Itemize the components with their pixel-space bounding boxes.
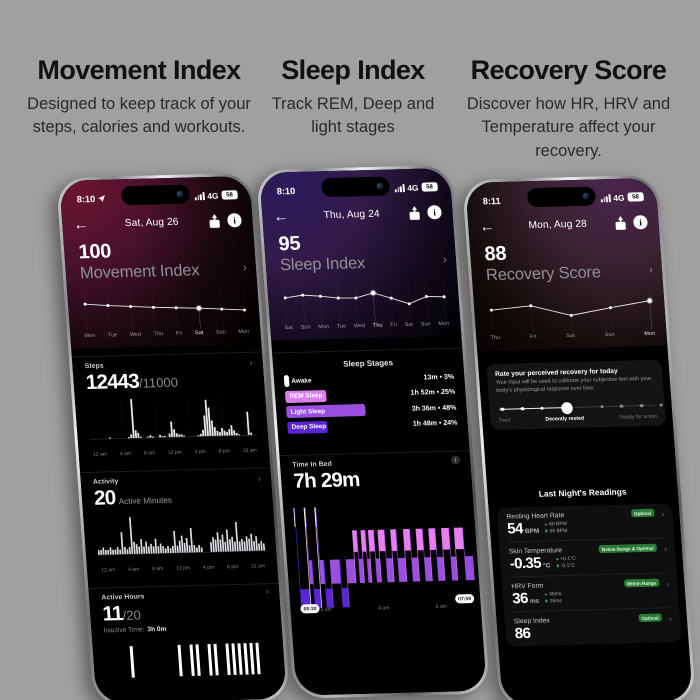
dynamic-island: [121, 184, 190, 205]
axis-tick: 4 am: [120, 451, 132, 457]
stage-bar: Deep Sleep: [287, 421, 327, 434]
stage-value: 1h 48m • 24%: [413, 420, 458, 428]
axis-tick: 8 am: [144, 450, 156, 456]
reading-main: 86: [514, 622, 672, 641]
week-sparkline-recovery[interactable]: ThuFriSatSunMon: [484, 290, 659, 350]
activity-unit: Active Minutes: [118, 496, 172, 506]
readings-heading: Last Night's Readings: [487, 485, 677, 500]
readings-card: Resting Heart Rate54BPM60 BPM55 BPMOptim…: [497, 503, 682, 646]
card-activity[interactable]: Activity › 20 Active Minutes 12 am4 am8 …: [80, 467, 278, 584]
axis-tick: 8 pm: [219, 448, 231, 454]
day-label: Mon: [644, 331, 655, 337]
active-hours-goal: /20: [122, 608, 141, 623]
slider-label-high: Ready for action: [619, 414, 657, 421]
sleep-end-pill: 07:59: [455, 594, 474, 603]
reading-row[interactable]: HRV Form36ms45ms35msWithin Range›: [502, 573, 679, 611]
nav-bar: ← Sat, Aug 26 i: [62, 206, 254, 239]
screen-recovery: 8:11 4G 58 ← Mon, Aug 28 i 88 Recovery S…: [465, 178, 692, 700]
stage-bar-wrap: AwakeAwake: [284, 375, 312, 388]
card-active-hours[interactable]: Active Hours › 11 /20 Inactive Time: 3h …: [89, 583, 287, 700]
battery-icon: 58: [627, 193, 644, 202]
slider-label-mid: Decently rested: [545, 416, 584, 423]
day-label: Mon: [438, 321, 449, 327]
sleep-stage-row: Light Sleep3h 36m • 48%: [286, 402, 457, 418]
headline-subtitle: Track REM, Deep and light stages: [263, 93, 443, 140]
screen-sleep: 8:10 4G 58 ← Thu, Aug 24 i 95 Sleep Inde…: [259, 168, 486, 695]
nav-date-label: Thu, Aug 24: [288, 208, 409, 222]
day-label: Mon: [84, 333, 95, 339]
day-label: Sat: [404, 322, 413, 328]
sleep-stage-row: Deep Sleep1h 48m • 24%: [287, 418, 458, 434]
phone-recovery-score: 8:11 4G 58 ← Mon, Aug 28 i 88 Recovery S…: [462, 175, 696, 700]
camera-dot: [582, 192, 590, 199]
nav-date-label: Mon, Aug 28: [494, 218, 615, 232]
back-arrow-icon[interactable]: ←: [479, 219, 495, 234]
back-arrow-icon[interactable]: ←: [73, 217, 89, 232]
slider-dots: [497, 400, 656, 404]
axis-tick: 2 am: [321, 607, 333, 613]
slider-step-dot[interactable]: [620, 404, 624, 407]
chevron-right-icon[interactable]: ›: [249, 358, 253, 368]
chevron-right-icon[interactable]: ›: [243, 262, 248, 274]
location-arrow-icon: [97, 194, 106, 202]
stage-bar: REM Sleep: [285, 390, 327, 403]
headline-movement: Movement Index Designed to keep track of…: [20, 56, 258, 140]
reading-unit: ms: [530, 598, 540, 606]
chevron-right-icon[interactable]: ›: [661, 510, 664, 519]
day-label: Tue: [337, 324, 347, 330]
back-arrow-icon[interactable]: ←: [273, 209, 289, 224]
steps-goal: /11000: [139, 375, 179, 391]
hero-movement[interactable]: 100 Movement Index ›: [78, 238, 247, 283]
range-low: 55 BPM: [545, 528, 568, 535]
reading-value: 86: [514, 626, 531, 641]
reading-row[interactable]: Sleep Index86Optimal›: [504, 608, 681, 646]
rate-card-description: Your input will be used to calibrate you…: [496, 376, 656, 396]
week-sparkline-sleep[interactable]: SatSunMonTueWedThuFriSatSunMon: [278, 280, 453, 340]
day-label: Thu: [490, 335, 500, 341]
reading-main: 54BPM60 BPM55 BPM: [507, 518, 665, 537]
steps-axis-labels: 12 am4 am8 am12 pm4 pm8 pm12 am: [91, 448, 259, 458]
activity-bar-chart: [95, 510, 266, 562]
day-label: Sat: [195, 330, 204, 336]
hero-score: 100: [78, 238, 245, 263]
axis-tick: 12 am: [243, 448, 257, 454]
dynamic-island: [527, 186, 596, 207]
reading-row[interactable]: Skin Temperature-0.35°C+0.1°C-0.1°CBelow…: [499, 538, 676, 576]
slider-step-dot[interactable]: [501, 407, 505, 410]
chevron-right-icon[interactable]: ›: [266, 586, 270, 596]
axis-tick: 12 am: [101, 567, 115, 573]
stage-bar-wrap: Deep Sleep: [287, 421, 327, 434]
nav-bar: ← Thu, Aug 24 i: [262, 198, 454, 231]
day-label: Sun: [216, 330, 226, 336]
stage-name: Awake: [291, 377, 312, 385]
slider-fill: [500, 407, 570, 410]
share-icon[interactable]: [614, 216, 627, 230]
share-icon[interactable]: [408, 206, 421, 220]
axis-tick: 12 am: [93, 452, 107, 458]
headline-title: Movement Index: [20, 56, 258, 86]
reading-unit: °C: [543, 563, 551, 571]
chevron-right-icon[interactable]: ›: [649, 264, 654, 276]
range-low: 35ms: [545, 598, 562, 605]
reading-main: -0.35°C+0.1°C-0.1°C: [509, 553, 667, 572]
reading-value: 54: [507, 521, 524, 536]
day-label: Mon: [238, 329, 249, 335]
chevron-right-icon[interactable]: ›: [257, 474, 261, 484]
day-label: Sat: [284, 325, 293, 331]
headline-row: Movement Index Designed to keep track of…: [0, 0, 700, 172]
axis-tick: 4 pm: [203, 565, 215, 571]
status-badge: Within Range: [623, 579, 659, 588]
sparkline-svg: [278, 280, 452, 324]
day-label: Wed: [354, 323, 366, 329]
sparkline-svg: [78, 288, 252, 332]
sleep-stages-heading: Sleep Stages: [283, 357, 453, 370]
axis-tick: 12 am: [251, 563, 265, 569]
axis-tick: 8 am: [152, 566, 164, 572]
card-steps[interactable]: Steps › 12443 /11000 12 am4 am8 am12 pm4…: [72, 352, 270, 469]
signal-icon: [395, 184, 405, 192]
axis-tick: 4 am: [128, 567, 140, 573]
perceived-recovery-card[interactable]: Rate your perceived recovery for today Y…: [486, 360, 665, 430]
network-label: 4G: [407, 182, 419, 192]
screen-movement: 8:10 4G 58 ← Sat, Aug 26 i 100 Movement …: [59, 176, 286, 700]
phone-sleep-index: 8:10 4G 58 ← Thu, Aug 24 i 95 Sleep Inde…: [256, 165, 490, 699]
day-label: Tue: [108, 332, 118, 338]
reading-row[interactable]: Resting Heart Rate54BPM60 BPM55 BPMOptim…: [497, 503, 674, 541]
stage-bar: Light Sleep: [286, 404, 366, 418]
readings-heading-wrap: Last Night's Readings: [487, 485, 677, 500]
day-label: Sun: [301, 325, 311, 331]
stage-value: 13m • 3%: [423, 373, 454, 381]
steps-value: 12443: [85, 370, 140, 395]
axis-tick: 4 am: [378, 605, 390, 611]
info-icon[interactable]: i: [427, 206, 441, 220]
headline-recovery: Recovery Score Discover how HR, HRV and …: [447, 56, 690, 163]
slider-step-dot[interactable]: [521, 407, 525, 410]
axis-tick: 8 pm: [227, 564, 239, 570]
sparkline-svg: [484, 290, 658, 334]
reading-range: 60 BPM55 BPM: [545, 521, 568, 536]
nav-date-label: Sat, Aug 26: [88, 216, 209, 230]
nav-bar: ← Mon, Aug 28 i: [468, 208, 660, 241]
stage-bar-wrap: REM Sleep: [285, 390, 327, 403]
sleep-start-pill: 00:30: [300, 604, 319, 613]
sleep-stage-list: AwakeAwake13m • 3%REM Sleep1h 52m • 25%L…: [284, 371, 458, 434]
day-label: Sun: [421, 322, 431, 328]
time-in-bed-section: Time In Bed i 7h 29m 2 am4 am6 am 00:30 …: [280, 450, 487, 695]
stage-bar-wrap: Light Sleep: [286, 404, 366, 418]
chevron-right-icon[interactable]: ›: [669, 614, 672, 623]
phone-movement-index: 8:10 4G 58 ← Sat, Aug 26 i 100 Movement …: [56, 173, 290, 700]
info-icon[interactable]: i: [227, 214, 241, 228]
signal-icon: [195, 192, 205, 200]
active-hours-value: 11: [102, 602, 124, 626]
active-hours-bar-chart: [104, 634, 275, 680]
slider-label-low: Tired: [498, 418, 510, 424]
day-label: Thu: [373, 323, 383, 329]
battery-icon: 58: [221, 191, 238, 200]
headline-subtitle: Designed to keep track of your steps, ca…: [20, 93, 258, 140]
status-time: 8:10: [276, 186, 295, 196]
camera-dot: [176, 190, 184, 197]
axis-tick: 12 pm: [176, 565, 190, 571]
share-icon[interactable]: [208, 214, 221, 228]
reading-value: -0.35: [509, 556, 541, 572]
slider-step-dot[interactable]: [600, 405, 604, 408]
hero-score: 88: [484, 240, 651, 265]
axis-tick: 4 pm: [195, 449, 207, 455]
stage-value: 1h 52m • 25%: [410, 389, 455, 397]
slider-step-dot[interactable]: [659, 403, 663, 406]
inactive-time-label: Inactive Time:: [103, 627, 144, 635]
reading-value: 36: [512, 591, 529, 606]
network-label: 4G: [613, 192, 625, 202]
stage-bar: Awake: [284, 375, 290, 387]
slider-step-dot[interactable]: [640, 404, 644, 407]
day-label: Fri: [390, 322, 397, 328]
network-label: 4G: [207, 190, 219, 200]
stage-value: 3h 36m • 48%: [412, 404, 457, 412]
axis-tick: 12 pm: [168, 450, 182, 456]
hero-score: 95: [278, 230, 445, 255]
headline-title: Sleep Index: [263, 56, 443, 86]
day-label: Mon: [318, 324, 329, 330]
day-label: Thu: [154, 331, 164, 337]
reading-unit: BPM: [525, 528, 540, 536]
axis-tick: 6 am: [436, 604, 448, 610]
dynamic-island: [321, 176, 390, 197]
status-badge: Optimal: [631, 509, 655, 518]
sleep-stages-section: Sleep Stages AwakeAwake13m • 3%REM Sleep…: [272, 348, 468, 435]
sleep-stage-row: AwakeAwake13m • 3%: [284, 371, 455, 387]
headline-title: Recovery Score: [447, 56, 690, 86]
info-icon[interactable]: i: [633, 216, 647, 230]
slider-knob[interactable]: [561, 402, 573, 414]
hypnogram-chart: [291, 496, 479, 608]
hero-sleep[interactable]: 95 Sleep Index ›: [278, 230, 447, 275]
day-label: Sat: [566, 333, 575, 339]
inactive-time-value: 3h 0m: [147, 626, 167, 633]
range-low: -0.1°C: [556, 562, 576, 569]
week-sparkline-movement[interactable]: MonTueWedThuFriSatSunMon: [78, 288, 253, 348]
day-label: Sun: [605, 332, 615, 338]
status-time: 8:11: [482, 196, 501, 206]
headline-subtitle: Discover how HR, HRV and Temperature aff…: [447, 93, 690, 163]
chevron-right-icon[interactable]: ›: [664, 545, 667, 554]
sleep-stage-row: REM Sleep1h 52m • 25%: [285, 386, 456, 402]
day-label: Fri: [530, 334, 537, 340]
status-time: 8:10: [76, 194, 95, 204]
signal-icon: [601, 194, 611, 202]
activity-value: 20: [93, 486, 116, 510]
reading-range: +0.1°C-0.1°C: [556, 556, 577, 570]
day-label: Fri: [176, 331, 183, 337]
chevron-right-icon[interactable]: ›: [443, 254, 448, 266]
reading-main: 36ms45ms35ms: [512, 587, 670, 606]
status-badge: Optimal: [638, 614, 662, 623]
time-in-bed-value: 7h 29m: [293, 466, 462, 494]
reading-range: 45ms35ms: [545, 591, 563, 605]
camera-dot: [376, 182, 384, 189]
headline-sleep: Sleep Index Track REM, Deep and light st…: [263, 56, 443, 140]
activity-axis-labels: 12 am4 am8 am12 pm4 pm8 pm12 am: [99, 563, 267, 573]
steps-bar-chart: [87, 394, 258, 446]
day-label: Wed: [130, 332, 142, 338]
chevron-right-icon[interactable]: ›: [666, 579, 669, 588]
hero-recovery[interactable]: 88 Recovery Score ›: [484, 240, 653, 285]
battery-icon: 58: [421, 183, 438, 192]
